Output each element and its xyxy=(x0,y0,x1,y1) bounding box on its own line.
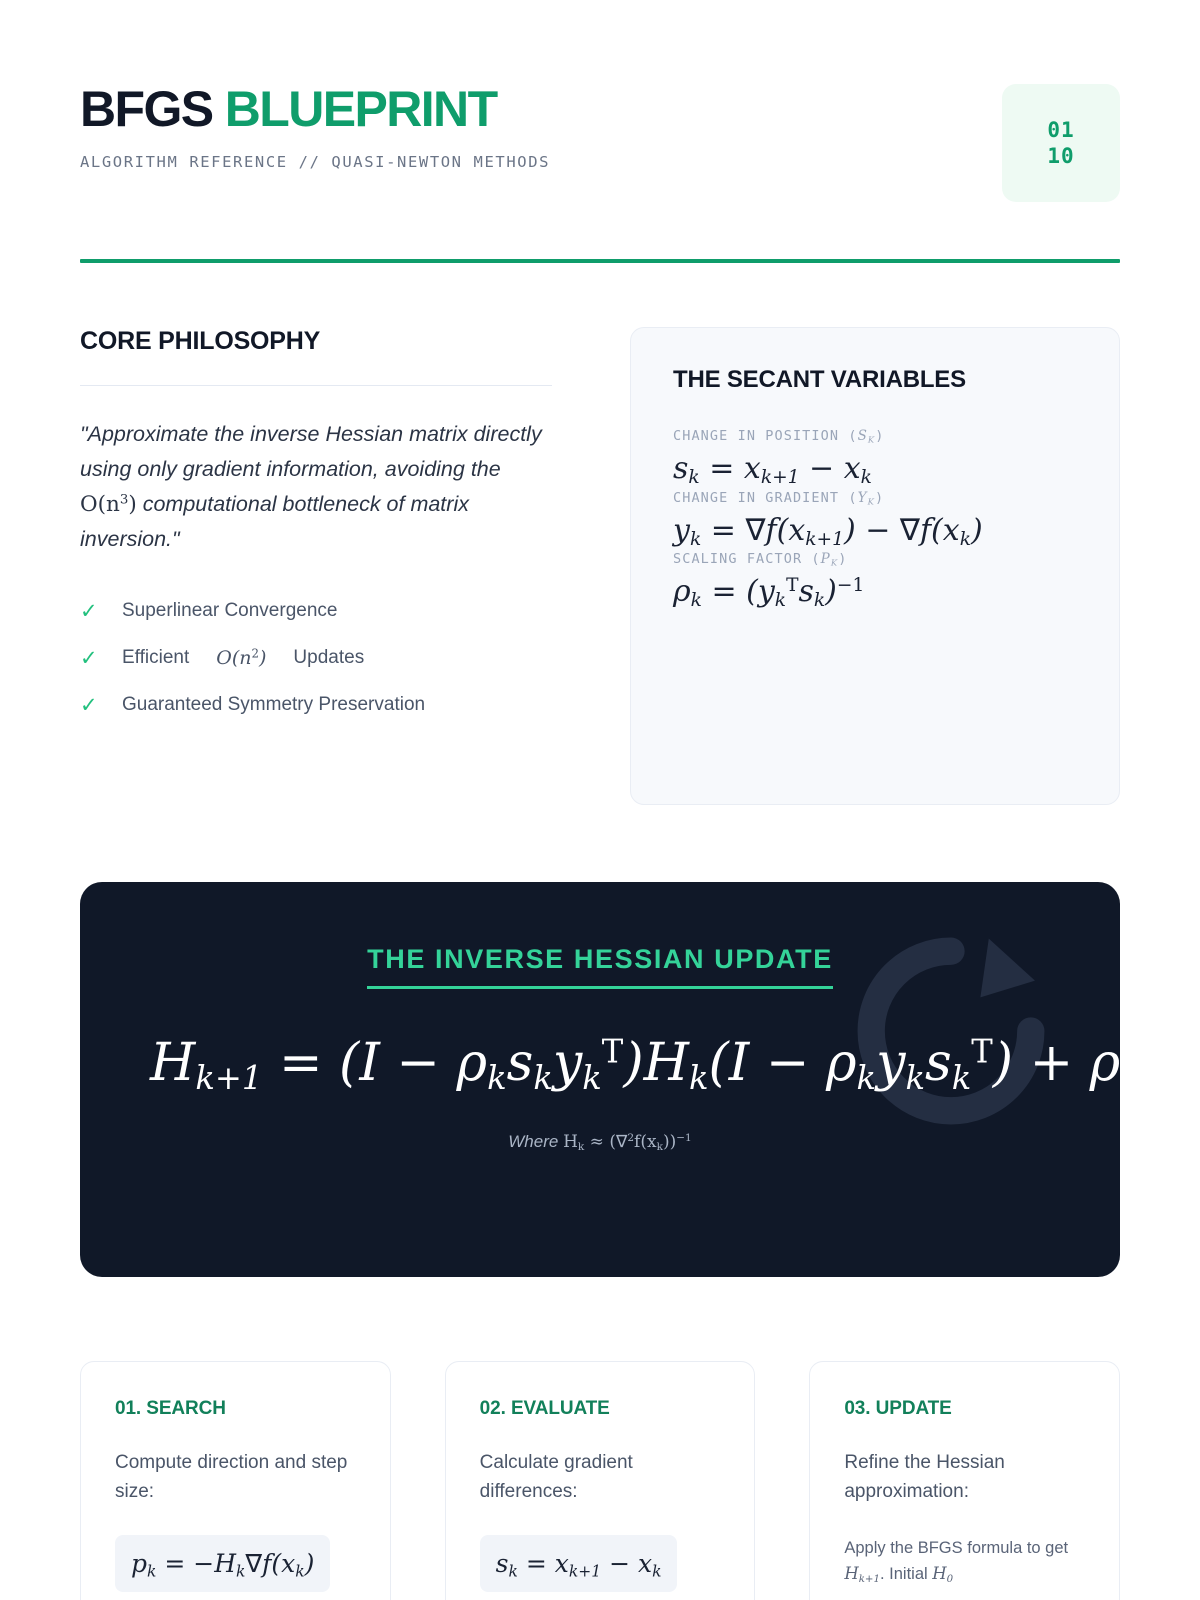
header-divider xyxy=(80,259,1120,263)
check-icon: ✓ xyxy=(80,695,102,716)
philosophy-title: CORE PHILOSOPHY xyxy=(80,327,552,356)
step-title: 01. SEARCH xyxy=(115,1398,356,1420)
step-equation: sk = xk+1 − xk xyxy=(480,1535,678,1592)
step-body: Refine the Hessian approximation: xyxy=(844,1448,1085,1507)
variable-label: SCALING FACTOR (PK) xyxy=(673,551,1077,567)
content-columns: CORE PHILOSOPHY "Approximate the inverse… xyxy=(80,327,1120,805)
check-icon: ✓ xyxy=(80,648,102,669)
page-header: BFGS BLUEPRINT ALGORITHM REFERENCE // QU… xyxy=(80,0,1120,202)
quote-text-start: "Approximate the inverse Hessian matrix … xyxy=(80,422,542,481)
secant-variable-scaling: SCALING FACTOR (PK) ρk = (ykTsk)−1 xyxy=(673,551,1077,613)
philosophy-divider xyxy=(80,385,552,386)
philosophy-quote: "Approximate the inverse Hessian matrix … xyxy=(80,417,552,557)
inverse-hessian-update-panel: THE INVERSE HESSIAN UPDATE Hk+1 = (I − ρ… xyxy=(80,882,1120,1277)
page-title: BFGS BLUEPRINT xyxy=(80,84,550,134)
philosophy-column: CORE PHILOSOPHY "Approximate the inverse… xyxy=(80,327,552,716)
feature-inline-math: O(n2) xyxy=(216,647,266,669)
panel-title-wrap: THE INVERSE HESSIAN UPDATE xyxy=(80,882,1120,989)
feature-label: Guaranteed Symmetry Preservation xyxy=(122,694,425,716)
panel-main-formula: Hk+1 = (I − ρkskykT)Hk(I − ρkykskT) + ρk… xyxy=(80,1031,1120,1096)
step-card-evaluate: 02. EVALUATE Calculate gradient differen… xyxy=(445,1361,756,1600)
step-note-math-two: H0 xyxy=(932,1564,953,1583)
secant-title: THE SECANT VARIABLES xyxy=(673,366,1077,394)
brand-block: BFGS BLUEPRINT ALGORITHM REFERENCE // QU… xyxy=(80,78,550,171)
secant-variables-card: THE SECANT VARIABLES CHANGE IN POSITION … xyxy=(630,327,1120,805)
step-note-prefix: Apply the BFGS formula to get xyxy=(844,1539,1068,1557)
secant-variable-gradient: CHANGE IN GRADIENT (YK) yk = ∇f(xk+1) − … xyxy=(673,490,1077,552)
page-root: BFGS BLUEPRINT ALGORITHM REFERENCE // QU… xyxy=(0,0,1200,1600)
variable-label: CHANGE IN POSITION (SK) xyxy=(673,428,1077,444)
feature-label: Efficient xyxy=(122,647,189,669)
variable-equation: yk = ∇f(xk+1) − ∇f(xk) xyxy=(673,511,1077,552)
algorithm-steps: 01. SEARCH Compute direction and step si… xyxy=(80,1361,1120,1600)
feature-label: Superlinear Convergence xyxy=(122,600,337,622)
variable-label: CHANGE IN GRADIENT (YK) xyxy=(673,490,1077,506)
secant-variable-position: CHANGE IN POSITION (SK) sk = xk+1 − xk xyxy=(673,428,1077,490)
variable-equation: ρk = (ykTsk)−1 xyxy=(673,572,1077,613)
step-note-math-one: Hk+1 xyxy=(844,1564,880,1583)
check-icon: ✓ xyxy=(80,601,102,622)
feature-label-after: Updates xyxy=(293,647,364,669)
list-item: ✓ Guaranteed Symmetry Preservation xyxy=(80,694,552,716)
step-body: Calculate gradient differences: xyxy=(480,1448,721,1507)
caption-prefix: Where xyxy=(508,1132,558,1151)
logo-word-bfgs: BFGS xyxy=(80,81,213,137)
logo-word-blueprint: BLUEPRINT xyxy=(225,81,497,137)
variable-equation: sk = xk+1 − xk xyxy=(673,449,1077,490)
quote-text-end: computational bottleneck of matrix inver… xyxy=(80,492,469,552)
step-card-search: 01. SEARCH Compute direction and step si… xyxy=(80,1361,391,1600)
caption-math: Hk ≈ (∇2f(xk))−1 xyxy=(563,1132,692,1152)
list-item: ✓ Superlinear Convergence xyxy=(80,600,552,622)
binary-badge: 01 10 xyxy=(1002,84,1120,202)
step-card-update: 03. UPDATE Refine the Hessian approximat… xyxy=(809,1361,1120,1600)
secant-column: THE SECANT VARIABLES CHANGE IN POSITION … xyxy=(630,327,1120,805)
quote-inline-math: O(n3) xyxy=(80,492,137,517)
step-body: Compute direction and step size: xyxy=(115,1448,356,1507)
badge-line-two: 10 xyxy=(1047,143,1074,169)
step-equation: pk = −Hk∇f(xk) xyxy=(115,1535,330,1592)
panel-title: THE INVERSE HESSIAN UPDATE xyxy=(367,944,833,989)
feature-list: ✓ Superlinear Convergence ✓ Efficient O(… xyxy=(80,600,552,716)
step-note-mid: . Initial xyxy=(880,1565,928,1583)
step-note: Apply the BFGS formula to get Hk+1. Init… xyxy=(844,1535,1085,1588)
step-title: 03. UPDATE xyxy=(844,1398,1085,1420)
step-title: 02. EVALUATE xyxy=(480,1398,721,1420)
list-item: ✓ Efficient O(n2) Updates xyxy=(80,647,552,669)
page-subtitle: ALGORITHM REFERENCE // QUASI-NEWTON METH… xyxy=(80,153,550,171)
badge-line-one: 01 xyxy=(1047,117,1074,143)
panel-caption: Where Hk ≈ (∇2f(xk))−1 xyxy=(80,1132,1120,1152)
